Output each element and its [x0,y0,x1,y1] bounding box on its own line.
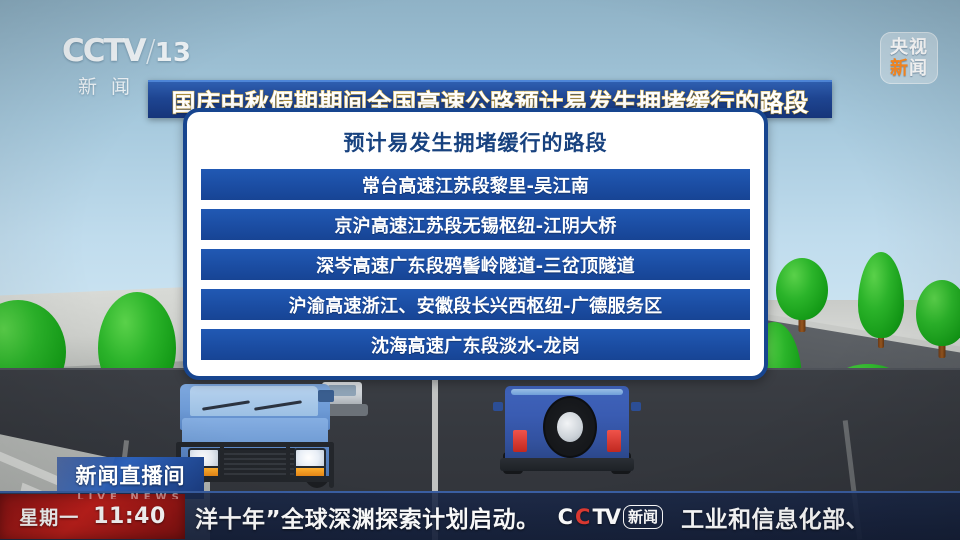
suv-mirror-left [493,402,503,411]
suv-spare-hubcap [557,412,583,442]
watermark-wen-char: 闻 [909,58,928,79]
cctv-wordmark: CCTV [62,33,145,69]
suv-rear-window [511,389,623,395]
suv-taillight-right [607,430,621,452]
road-list-row: 深岑高速广东段鸦髻岭隧道-三岔顶隧道 [201,249,750,280]
pickup-bullbar-top [176,442,334,447]
road-list-row-label: 沈海高速广东段淡水-龙岗 [371,332,580,358]
broadcast-screen: CCTV/13 新闻 央视 新闻 国庆中秋假期期间全国高速公路预计易发生拥堵缓行… [0,0,960,540]
road-list-row: 京沪高速江苏段无锡枢纽-江阴大桥 [201,209,750,240]
pickup-bullbar-post-mid1 [220,442,224,482]
watermark-line-1: 央视 [890,39,928,57]
ticker-scroll-area: 洋十年”全球深渊探索计划启动。 CCTV 新闻 工业和信息化部、 [185,500,960,534]
pickup-side-mirror [318,390,334,402]
ticker-logo-c2: C [575,505,588,529]
tree-deck-b [916,280,960,362]
program-bug: 新闻直播间 LIVE NEWS [57,457,204,499]
pickup-bullbar-post-mid2 [286,442,290,482]
road-list-row-label: 深岑高速广东段鸦髻岭隧道-三岔顶隧道 [316,252,635,278]
watermark-xin-char: 新 [890,58,909,79]
road-list-row-label: 沪渝高速浙江、安徽段长兴西枢纽-广德服务区 [289,292,663,318]
watermark-line-2: 新闻 [890,60,928,78]
cctv-news-watermark: 央视 新闻 [880,32,938,84]
ticker-logo-news-badge: 新闻 [623,505,663,529]
cctv-logo-slash: / [145,34,155,69]
clock-time-label: 11:40 [93,504,166,529]
ticker-logo-c1: C [558,505,571,529]
suv-mirror-right [631,402,641,411]
program-subtitle: LIVE NEWS [57,492,204,499]
cctv-channel-number: 13 [155,38,191,68]
tree-foliage [916,280,960,346]
suv-rear-bumper [500,458,634,471]
road-list-row: 沈海高速广东段淡水-龙岗 [201,329,750,360]
cctv13-logo-row: CCTV/13 [62,34,242,70]
panel-title: 预计易发生拥堵缓行的路段 [187,127,764,157]
suv-taillight-left [513,430,527,452]
pickup-bullbar-post-right [329,442,334,488]
congestion-road-list: 常台高速江苏段黎里-吴江南京沪高速江苏段无锡枢纽-江阴大桥深岑高速广东段鸦髻岭隧… [187,169,764,360]
clock-day-label: 星期一 [19,503,79,530]
road-list-row: 沪渝高速浙江、安徽段长兴西枢纽-广德服务区 [201,289,750,320]
ticker-next-fragment: 工业和信息化部、 [681,500,869,534]
tree-foliage [776,258,828,320]
road-list-row: 常台高速江苏段黎里-吴江南 [201,169,750,200]
program-name: 新闻直播间 [57,460,204,490]
clock-box: 星期一 11:40 [0,494,185,539]
road-list-row-label: 京沪高速江苏段无锡枢纽-江阴大桥 [334,212,616,238]
road-list-row-label: 常台高速江苏段黎里-吴江南 [362,172,589,198]
suv-spare-tire [543,396,597,458]
tree-deck-teardrop [858,252,904,352]
info-panel: 预计易发生拥堵缓行的路段 常台高速江苏段黎里-吴江南京沪高速江苏段无锡枢纽-江阴… [183,108,768,380]
tree-foliage [858,252,904,338]
ticker-logo-tv: TV [592,505,619,529]
ticker-headline-fragment: 洋十年”全球深渊探索计划启动。 [195,500,540,534]
cctv-news-ticker-logo: CCTV 新闻 [558,505,663,529]
